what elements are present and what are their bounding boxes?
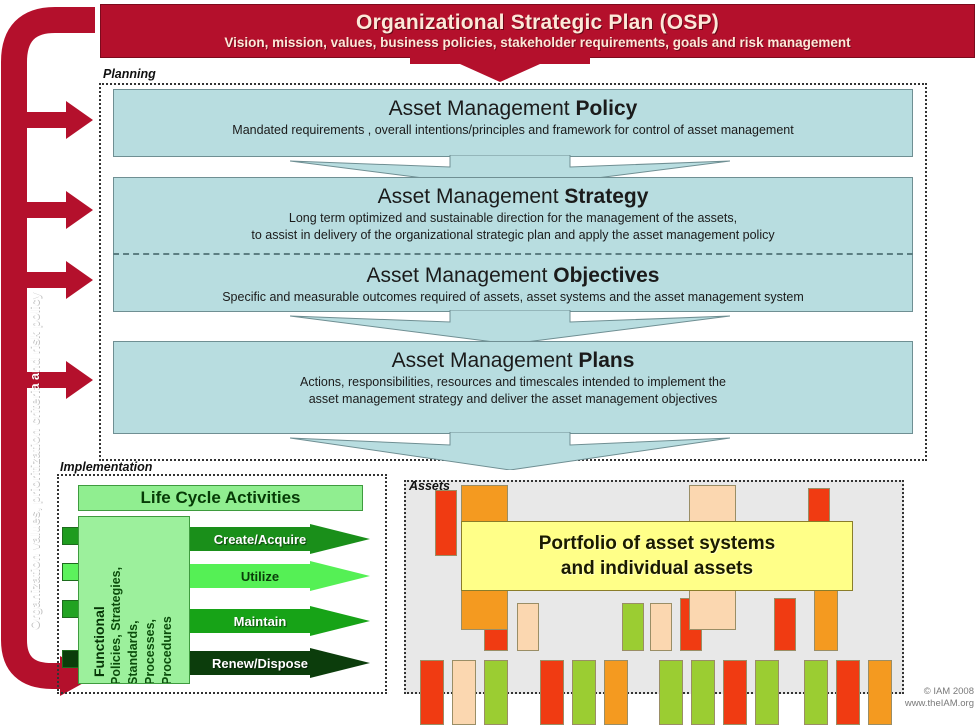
asset-bar — [517, 603, 539, 651]
strategy-body-line2: to assist in delivery of the organizatio… — [114, 227, 912, 243]
loop-label: Organization values, prioritization crit… — [28, 292, 42, 630]
planning-section-label: Planning — [103, 67, 156, 81]
asset-bar — [774, 598, 796, 651]
asset-bar — [868, 660, 892, 725]
osp-subtitle: Vision, mission, values, business polici… — [224, 35, 850, 51]
functional-policies-box: Functional Policies, Strategies, Standar… — [78, 516, 190, 684]
objectives-to-plans-chevron — [290, 310, 730, 344]
copyright-block: © IAM 2008 www.theIAM.org — [905, 686, 974, 710]
asset-bar — [723, 660, 747, 725]
functional-line-1: Standards, — [126, 620, 140, 684]
portfolio-callout: Portfolio of asset systems and individua… — [461, 521, 853, 591]
implementation-section-label: Implementation — [60, 460, 152, 474]
asset-bar — [604, 660, 628, 725]
functional-line-2: Processes, — [143, 619, 157, 684]
copyright-text: © IAM 2008 — [905, 686, 974, 698]
asset-bar — [540, 660, 564, 725]
asset-bar — [420, 660, 444, 725]
asset-bar — [836, 660, 860, 725]
strategy-objectives-divider — [113, 253, 913, 255]
plans-to-implementation-chevron — [290, 432, 730, 470]
asset-bar — [650, 603, 672, 651]
diagram-canvas: Organization values, prioritization crit… — [0, 0, 980, 714]
objectives-heading: Asset Management Objectives — [114, 263, 912, 288]
asset-bar — [572, 660, 596, 725]
asset-management-plans-box: Asset Management Plans Actions, responsi… — [113, 341, 913, 434]
objectives-block: Asset Management Objectives Specific and… — [114, 257, 912, 305]
osp-down-arrow — [410, 56, 590, 82]
functional-label: Functional — [91, 606, 107, 677]
life-cycle-activities-title: Life Cycle Activities — [78, 485, 363, 511]
utilize-arrow — [180, 561, 370, 591]
objectives-body: Specific and measurable outcomes require… — [114, 289, 912, 305]
asset-bar — [755, 660, 779, 725]
strategy-body-line1: Long term optimized and sustainable dire… — [114, 210, 912, 226]
asset-bar — [622, 603, 644, 651]
osp-title: Organizational Strategic Plan (OSP) — [356, 11, 719, 34]
plans-body-line1: Actions, responsibilities, resources and… — [114, 374, 912, 390]
renew-dispose-arrow — [180, 648, 370, 678]
maintain-arrow — [180, 606, 370, 636]
asset-bar — [691, 660, 715, 725]
functional-line-0: Policies, Strategies, — [109, 567, 123, 684]
portfolio-line-2: and individual assets — [561, 556, 753, 581]
plans-heading: Asset Management Plans — [114, 348, 912, 373]
website-text: www.theIAM.org — [905, 698, 974, 710]
strategy-heading: Asset Management Strategy — [114, 184, 912, 209]
policy-body: Mandated requirements , overall intentio… — [114, 122, 912, 138]
create-acquire-arrow — [180, 524, 370, 554]
asset-bar — [659, 660, 683, 725]
osp-header: Organizational Strategic Plan (OSP) Visi… — [100, 4, 975, 58]
portfolio-line-1: Portfolio of asset systems — [539, 531, 776, 556]
policy-heading: Asset Management Policy — [114, 96, 912, 121]
strategy-objectives-box: Asset Management Strategy Long term opti… — [113, 177, 913, 312]
asset-bar — [452, 660, 476, 725]
asset-management-policy-box: Asset Management Policy Mandated require… — [113, 89, 913, 157]
plans-body-line2: asset management strategy and deliver th… — [114, 391, 912, 407]
asset-bar — [435, 490, 457, 556]
functional-line-3: Procedures — [160, 616, 174, 684]
asset-bar — [484, 660, 508, 725]
asset-bar — [804, 660, 828, 725]
strategy-block: Asset Management Strategy Long term opti… — [114, 178, 912, 243]
